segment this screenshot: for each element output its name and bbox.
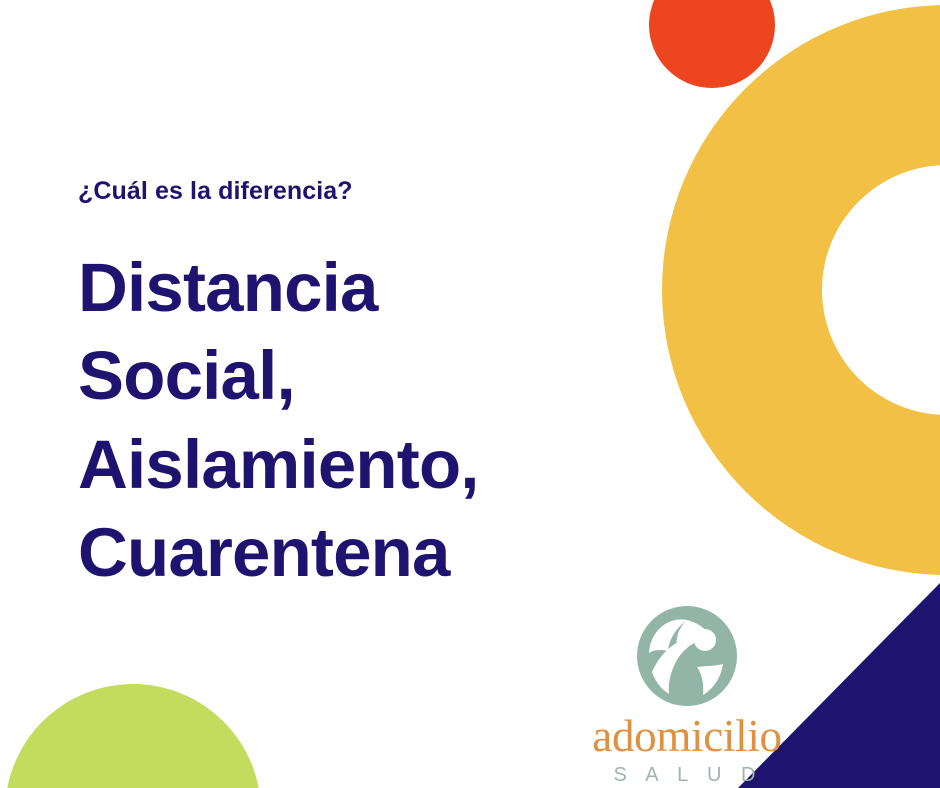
headline-line-2: Social,	[78, 332, 598, 420]
logo-tagline: S A L U D	[594, 765, 782, 785]
poster-text-block: ¿Cuál es la diferencia? Distancia Social…	[78, 176, 598, 597]
headline-line-1: Distancia	[78, 244, 598, 332]
poster-canvas: ¿Cuál es la diferencia? Distancia Social…	[0, 0, 940, 788]
headline-line-4: Cuarentena	[78, 509, 598, 597]
adomicilio-figure-icon	[635, 604, 739, 708]
poster-eyebrow: ¿Cuál es la diferencia?	[78, 176, 598, 206]
headline-line-3: Aislamiento,	[78, 421, 598, 509]
poster-headline: Distancia Social, Aislamiento, Cuarenten…	[78, 244, 598, 597]
brand-logo: adomicilio S A L U D	[592, 604, 782, 785]
green-circle-decoration	[5, 684, 261, 788]
logo-wordmark: adomicilio	[592, 714, 782, 759]
red-circle-decoration	[649, 0, 775, 88]
